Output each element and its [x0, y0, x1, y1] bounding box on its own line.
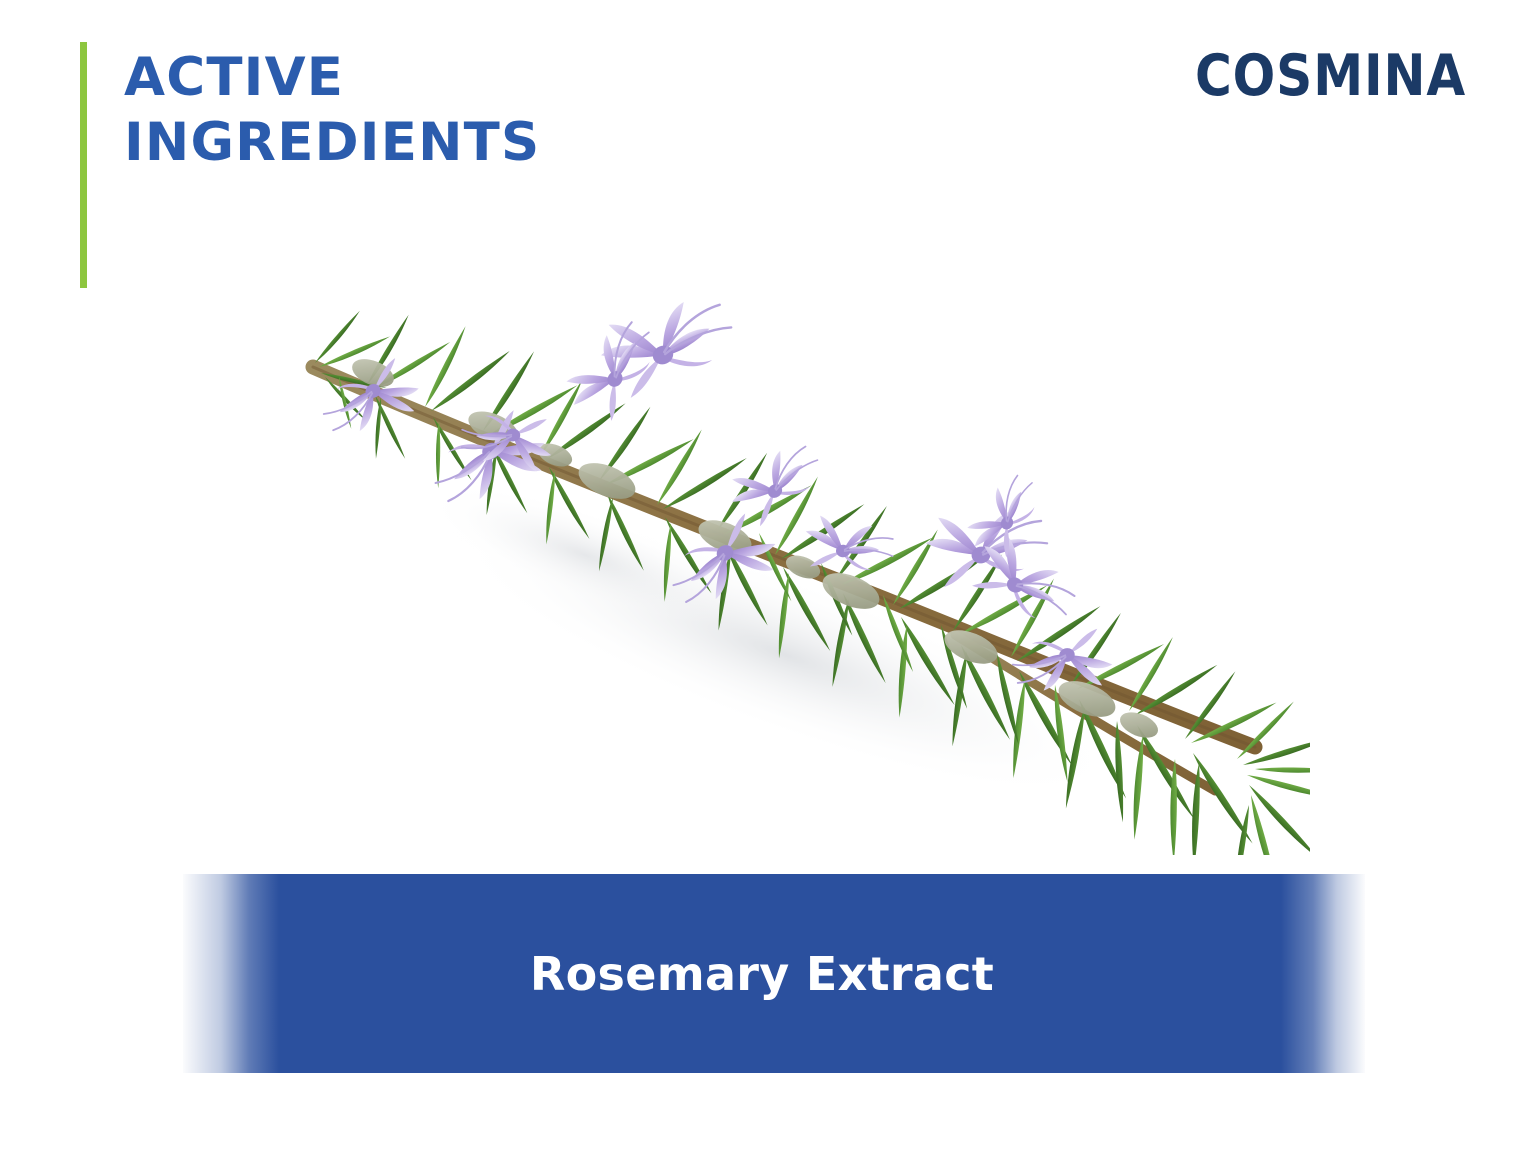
- page-title: ACTIVE INGREDIENTS: [124, 45, 540, 175]
- accent-bar: [80, 42, 87, 288]
- slide-root: ACTIVE INGREDIENTS COSMINA: [0, 0, 1538, 1159]
- brand-logo: COSMINA: [1195, 48, 1466, 105]
- hero-image-rosemary: [255, 255, 1310, 855]
- ingredient-name: Rosemary Extract: [530, 947, 994, 1001]
- rosemary-sprig-illustration: [255, 255, 1310, 855]
- caption-banner: Rosemary Extract: [183, 874, 1365, 1073]
- header: ACTIVE INGREDIENTS: [80, 42, 540, 288]
